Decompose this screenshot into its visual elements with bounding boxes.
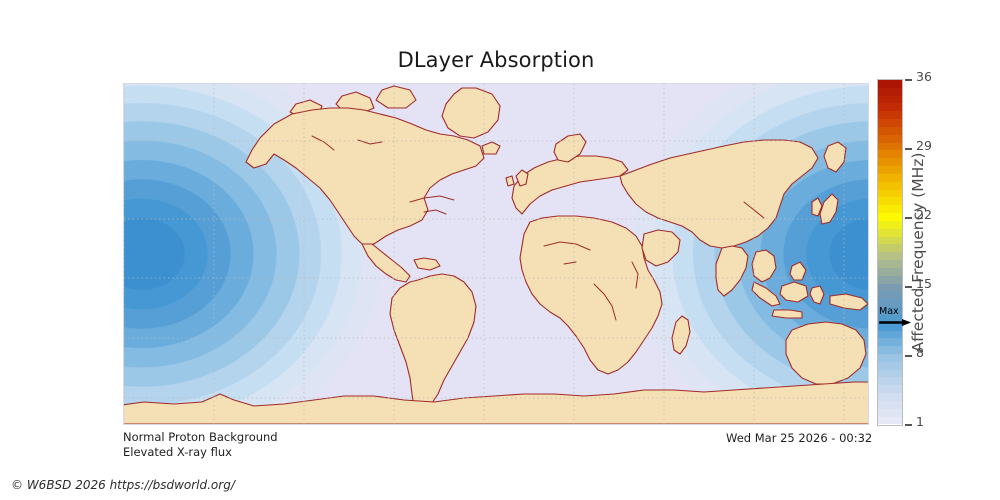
- colorbar-band: [878, 276, 902, 284]
- colorbar-axis-label: Affected Frequency (MHz): [905, 79, 931, 426]
- colorbar-band: [878, 158, 902, 166]
- colorbar-band: [878, 385, 902, 393]
- colorbar-band: [878, 229, 902, 237]
- copyright-notice: © W6BSD 2026 https://bsdworld.org/: [11, 478, 235, 492]
- colorbar-band: [878, 331, 902, 339]
- colorbar-band: [878, 244, 902, 252]
- colorbar-band: [878, 88, 902, 96]
- land-java: [772, 310, 802, 318]
- status-note-proton: Normal Proton Background: [123, 430, 278, 444]
- colorbar-band: [878, 190, 902, 198]
- colorbar-band: [878, 221, 902, 229]
- colorbar-gradient: [877, 79, 903, 426]
- colorbar-band: [878, 268, 902, 276]
- colorbar-band: [878, 393, 902, 401]
- colorbar-band: [878, 111, 902, 119]
- status-note-xray: Elevated X-ray flux: [123, 445, 232, 459]
- colorbar-band: [878, 291, 902, 299]
- colorbar-band: [878, 127, 902, 135]
- colorbar-band: [878, 103, 902, 111]
- colorbar-band: [878, 174, 902, 182]
- colorbar-band: [878, 362, 902, 370]
- colorbar-band: [878, 205, 902, 213]
- colorbar-band: [878, 260, 902, 268]
- colorbar-band: [878, 401, 902, 409]
- colorbar-band: [878, 80, 902, 88]
- page-title: DLayer Absorption: [0, 48, 1000, 72]
- colorbar-band: [878, 315, 902, 323]
- world-map-plot[interactable]: [123, 83, 869, 425]
- timestamp-label: Wed Mar 25 2026 - 00:32: [726, 431, 872, 445]
- colorbar-band: [878, 338, 902, 346]
- colorbar-band: [878, 135, 902, 143]
- colorbar-band: [878, 370, 902, 378]
- colorbar-band: [878, 307, 902, 315]
- colorbar-band: [878, 213, 902, 221]
- colorbar-band: [878, 252, 902, 260]
- colorbar-band: [878, 299, 902, 307]
- colorbar-band: [878, 166, 902, 174]
- colorbar[interactable]: 36 29 22 15 8 1 Max: [877, 79, 903, 426]
- colorbar-band: [878, 409, 902, 417]
- colorbar-band: [878, 150, 902, 158]
- colorbar-band: [878, 377, 902, 385]
- colorbar-band: [878, 417, 902, 425]
- colorbar-band: [878, 354, 902, 362]
- colorbar-band: [878, 182, 902, 190]
- colorbar-band: [878, 197, 902, 205]
- colorbar-band: [878, 143, 902, 151]
- land-ireland: [506, 176, 514, 186]
- colorbar-band: [878, 96, 902, 104]
- colorbar-band: [878, 346, 902, 354]
- colorbar-band: [878, 237, 902, 245]
- page-title-text: DLayer Absorption: [398, 48, 595, 72]
- map-canvas: [124, 84, 868, 424]
- colorbar-band: [878, 119, 902, 127]
- colorbar-band: [878, 284, 902, 292]
- colorbar-band: [878, 323, 902, 331]
